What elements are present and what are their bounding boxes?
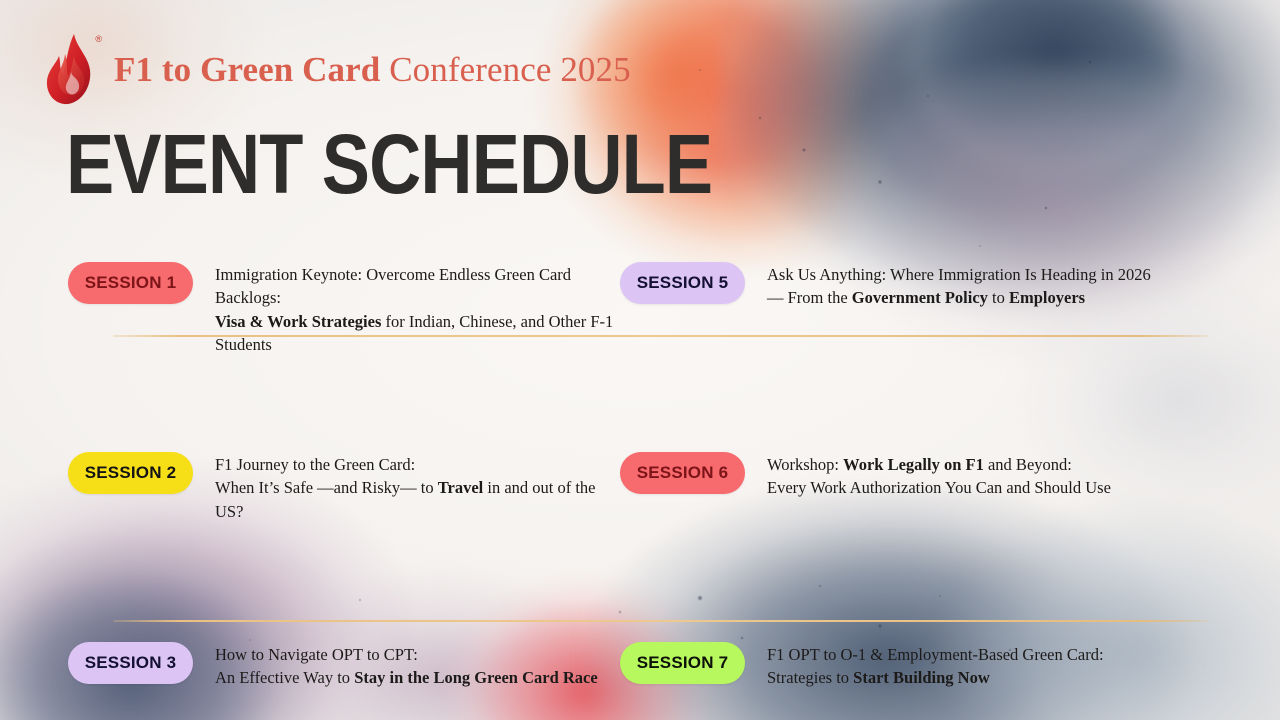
session-7-line1: F1 OPT to O-1 & Employment-Based Green C… — [767, 645, 1104, 664]
session-text-5: Ask Us Anything: Where Immigration Is He… — [767, 262, 1151, 310]
session-item-5[interactable]: SESSION 5 Ask Us Anything: Where Immigra… — [620, 262, 1210, 310]
session-5-line2-bold2: Employers — [1009, 288, 1085, 307]
session-item-6[interactable]: SESSION 6 Workshop: Work Legally on F1 a… — [620, 452, 1210, 500]
session-badge-1[interactable]: SESSION 1 — [68, 262, 193, 304]
session-text-7: F1 OPT to O-1 & Employment-Based Green C… — [767, 642, 1104, 690]
session-6-line2: Every Work Authorization You Can and Sho… — [767, 478, 1111, 497]
session-badge-2[interactable]: SESSION 2 — [68, 452, 193, 494]
brand-header: ® F1 to Green Card Conference 2025 — [44, 32, 631, 106]
schedule-row-2: SESSION 2 F1 Journey to the Green Card: … — [0, 452, 1280, 547]
session-badge-6[interactable]: SESSION 6 — [620, 452, 745, 494]
session-badge-5[interactable]: SESSION 5 — [620, 262, 745, 304]
session-text-2: F1 Journey to the Green Card: When It’s … — [215, 452, 620, 523]
session-1-line1: Immigration Keynote: Overcome Endless Gr… — [215, 265, 571, 307]
flame-droplet-logo-icon: ® — [44, 32, 96, 106]
session-2-line1: F1 Journey to the Green Card: — [215, 455, 415, 474]
session-2-line2-bold: Travel — [438, 478, 484, 497]
page-title: EVENT SCHEDULE — [66, 126, 712, 203]
session-3-line2-head: An Effective Way to — [215, 668, 354, 687]
watercolor-splatter-top-right-slate-core — [890, 0, 1220, 200]
schedule-row-1: SESSION 1 Immigration Keynote: Overcome … — [0, 262, 1280, 357]
session-7-line2-head: Strategies to — [767, 668, 853, 687]
session-text-1: Immigration Keynote: Overcome Endless Gr… — [215, 262, 620, 357]
session-3-line2-bold: Stay in the Long Green Card Race — [354, 668, 598, 687]
session-text-3: How to Navigate OPT to CPT: An Effective… — [215, 642, 598, 690]
session-7-line2-bold: Start Building Now — [853, 668, 990, 687]
session-item-7[interactable]: SESSION 7 F1 OPT to O-1 & Employment-Bas… — [620, 642, 1210, 690]
brand-title: F1 to Green Card Conference 2025 — [114, 52, 631, 87]
schedule-row-3: SESSION 3 How to Navigate OPT to CPT: An… — [0, 642, 1280, 720]
session-5-line2-head: — From the — [767, 288, 852, 307]
session-2-line2-head: When It’s Safe —and Risky— to — [215, 478, 438, 497]
event-schedule-poster: ® F1 to Green Card Conference 2025 EVENT… — [0, 0, 1280, 720]
registered-trademark-icon: ® — [95, 34, 102, 44]
session-6-line1-tail: and Beyond: — [984, 455, 1072, 474]
schedule-grid: SESSION 1 Immigration Keynote: Overcome … — [0, 262, 1280, 642]
session-5-line2-mid: to — [988, 288, 1009, 307]
session-badge-3[interactable]: SESSION 3 — [68, 642, 193, 684]
row-divider-1 — [113, 335, 1208, 337]
session-item-2[interactable]: SESSION 2 F1 Journey to the Green Card: … — [0, 452, 620, 523]
session-item-3[interactable]: SESSION 3 How to Navigate OPT to CPT: An… — [0, 642, 620, 690]
brand-name-bold: F1 to Green Card — [114, 50, 380, 89]
brand-name-light: Conference 2025 — [389, 50, 631, 89]
session-6-line1-head: Workshop: — [767, 455, 843, 474]
session-5-line2-bold: Government Policy — [852, 288, 988, 307]
session-5-line1: Ask Us Anything: Where Immigration Is He… — [767, 265, 1151, 284]
session-1-line2-bold: Visa & Work Strategies — [215, 312, 381, 331]
watercolor-splatter-top-crimson — [850, 20, 1130, 250]
row-divider-2 — [113, 620, 1208, 622]
session-3-line1: How to Navigate OPT to CPT: — [215, 645, 418, 664]
session-6-line1-bold: Work Legally on F1 — [843, 455, 984, 474]
session-badge-7[interactable]: SESSION 7 — [620, 642, 745, 684]
session-item-1[interactable]: SESSION 1 Immigration Keynote: Overcome … — [0, 262, 620, 357]
session-text-6: Workshop: Work Legally on F1 and Beyond:… — [767, 452, 1111, 500]
